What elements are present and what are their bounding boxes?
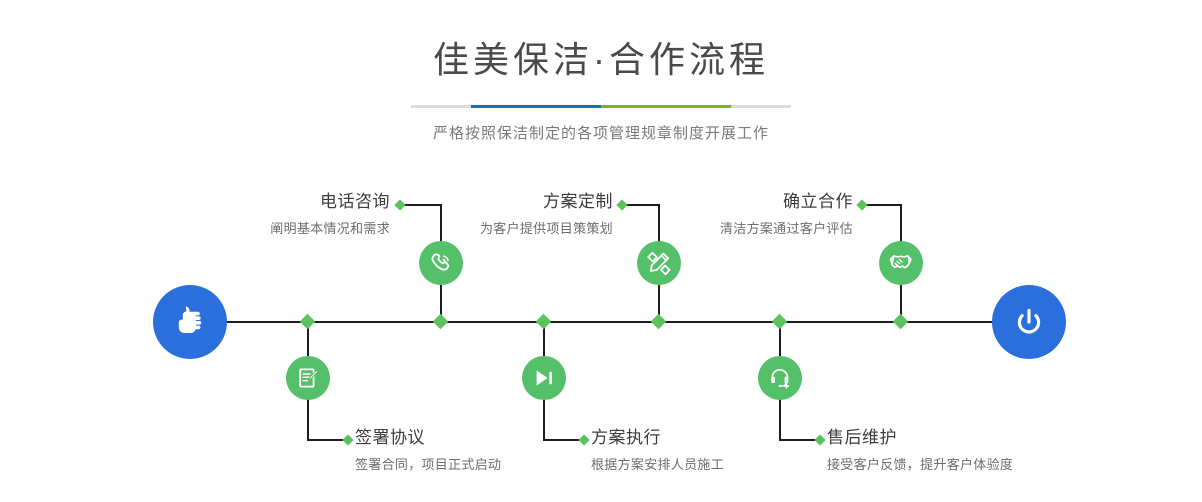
page-title: 佳美保洁·合作流程 [0, 0, 1202, 78]
step-title-1: 电话咨询 [225, 192, 390, 212]
connector-vline-6b [779, 399, 781, 440]
step-desc-2: 签署合同，项目正式启动 [355, 457, 555, 473]
step-desc-5: 清洁方案通过客户评估 [688, 221, 853, 237]
pencil-ruler-icon [646, 250, 672, 276]
axis-diamond-3 [651, 314, 667, 330]
label-hline-4 [543, 439, 583, 441]
label-diamond-6 [814, 434, 825, 445]
axis-diamond-5 [893, 314, 909, 330]
label-diamond-1 [394, 199, 405, 210]
phone-call-icon [428, 250, 454, 276]
step-desc-6: 接受客户反馈，提升客户体验度 [827, 457, 1067, 473]
label-hline-5 [862, 204, 902, 206]
step-title-2: 签署协议 [355, 428, 555, 448]
label-hline-6 [779, 439, 819, 441]
step-node-4[interactable] [522, 356, 566, 400]
axis-diamond-6 [772, 314, 788, 330]
step-node-3[interactable] [637, 241, 681, 285]
connector-vline-3 [658, 204, 660, 244]
connector-vline-4b [543, 399, 545, 440]
header: 佳美保洁·合作流程 严格按照保洁制定的各项管理规章制度开展工作 [0, 0, 1202, 143]
step-node-5[interactable] [879, 241, 923, 285]
hand-pointing-icon [170, 302, 210, 342]
headset-support-icon [768, 366, 792, 390]
connector-vline-2b [307, 399, 309, 440]
process-flow-infographic: 佳美保洁·合作流程 严格按照保洁制定的各项管理规章制度开展工作 [0, 0, 1202, 502]
step-desc-4: 根据方案安排人员施工 [591, 457, 791, 473]
label-diamond-2 [342, 434, 353, 445]
axis-diamond-4 [536, 314, 552, 330]
step-node-1[interactable] [419, 241, 463, 285]
play-skip-icon [532, 366, 556, 390]
axis-diamond-1 [433, 314, 449, 330]
step-label-5: 确立合作 清洁方案通过客户评估 [688, 192, 853, 237]
step-label-4: 方案执行 根据方案安排人员施工 [591, 428, 791, 473]
step-desc-1: 阐明基本情况和需求 [225, 221, 390, 237]
step-label-2: 签署协议 签署合同，项目正式启动 [355, 428, 555, 473]
step-label-1: 电话咨询 阐明基本情况和需求 [225, 192, 390, 237]
label-hline-2 [307, 439, 347, 441]
divider-segment-green [601, 105, 731, 108]
flow-end-marker [992, 285, 1066, 359]
step-title-3: 方案定制 [448, 192, 613, 212]
document-edit-icon [296, 366, 320, 390]
label-diamond-5 [856, 199, 867, 210]
axis-diamond-2 [300, 314, 316, 330]
connector-vline-5 [900, 204, 902, 244]
power-icon [1009, 302, 1049, 342]
page-subtitle: 严格按照保洁制定的各项管理规章制度开展工作 [0, 122, 1202, 143]
flow-start-marker [153, 285, 227, 359]
label-hline-1 [400, 204, 441, 206]
handshake-icon [888, 250, 914, 276]
step-desc-3: 为客户提供项目策策划 [448, 221, 613, 237]
label-diamond-4 [578, 434, 589, 445]
label-diamond-3 [616, 199, 627, 210]
title-divider [411, 105, 791, 108]
step-label-3: 方案定制 为客户提供项目策策划 [448, 192, 613, 237]
step-node-6[interactable] [758, 356, 802, 400]
step-title-5: 确立合作 [688, 192, 853, 212]
step-title-4: 方案执行 [591, 428, 791, 448]
divider-segment-blue [471, 105, 601, 108]
step-node-2[interactable] [286, 356, 330, 400]
step-label-6: 售后维护 接受客户反馈，提升客户体验度 [827, 428, 1067, 473]
connector-vline-1 [440, 204, 442, 244]
step-title-6: 售后维护 [827, 428, 1067, 448]
